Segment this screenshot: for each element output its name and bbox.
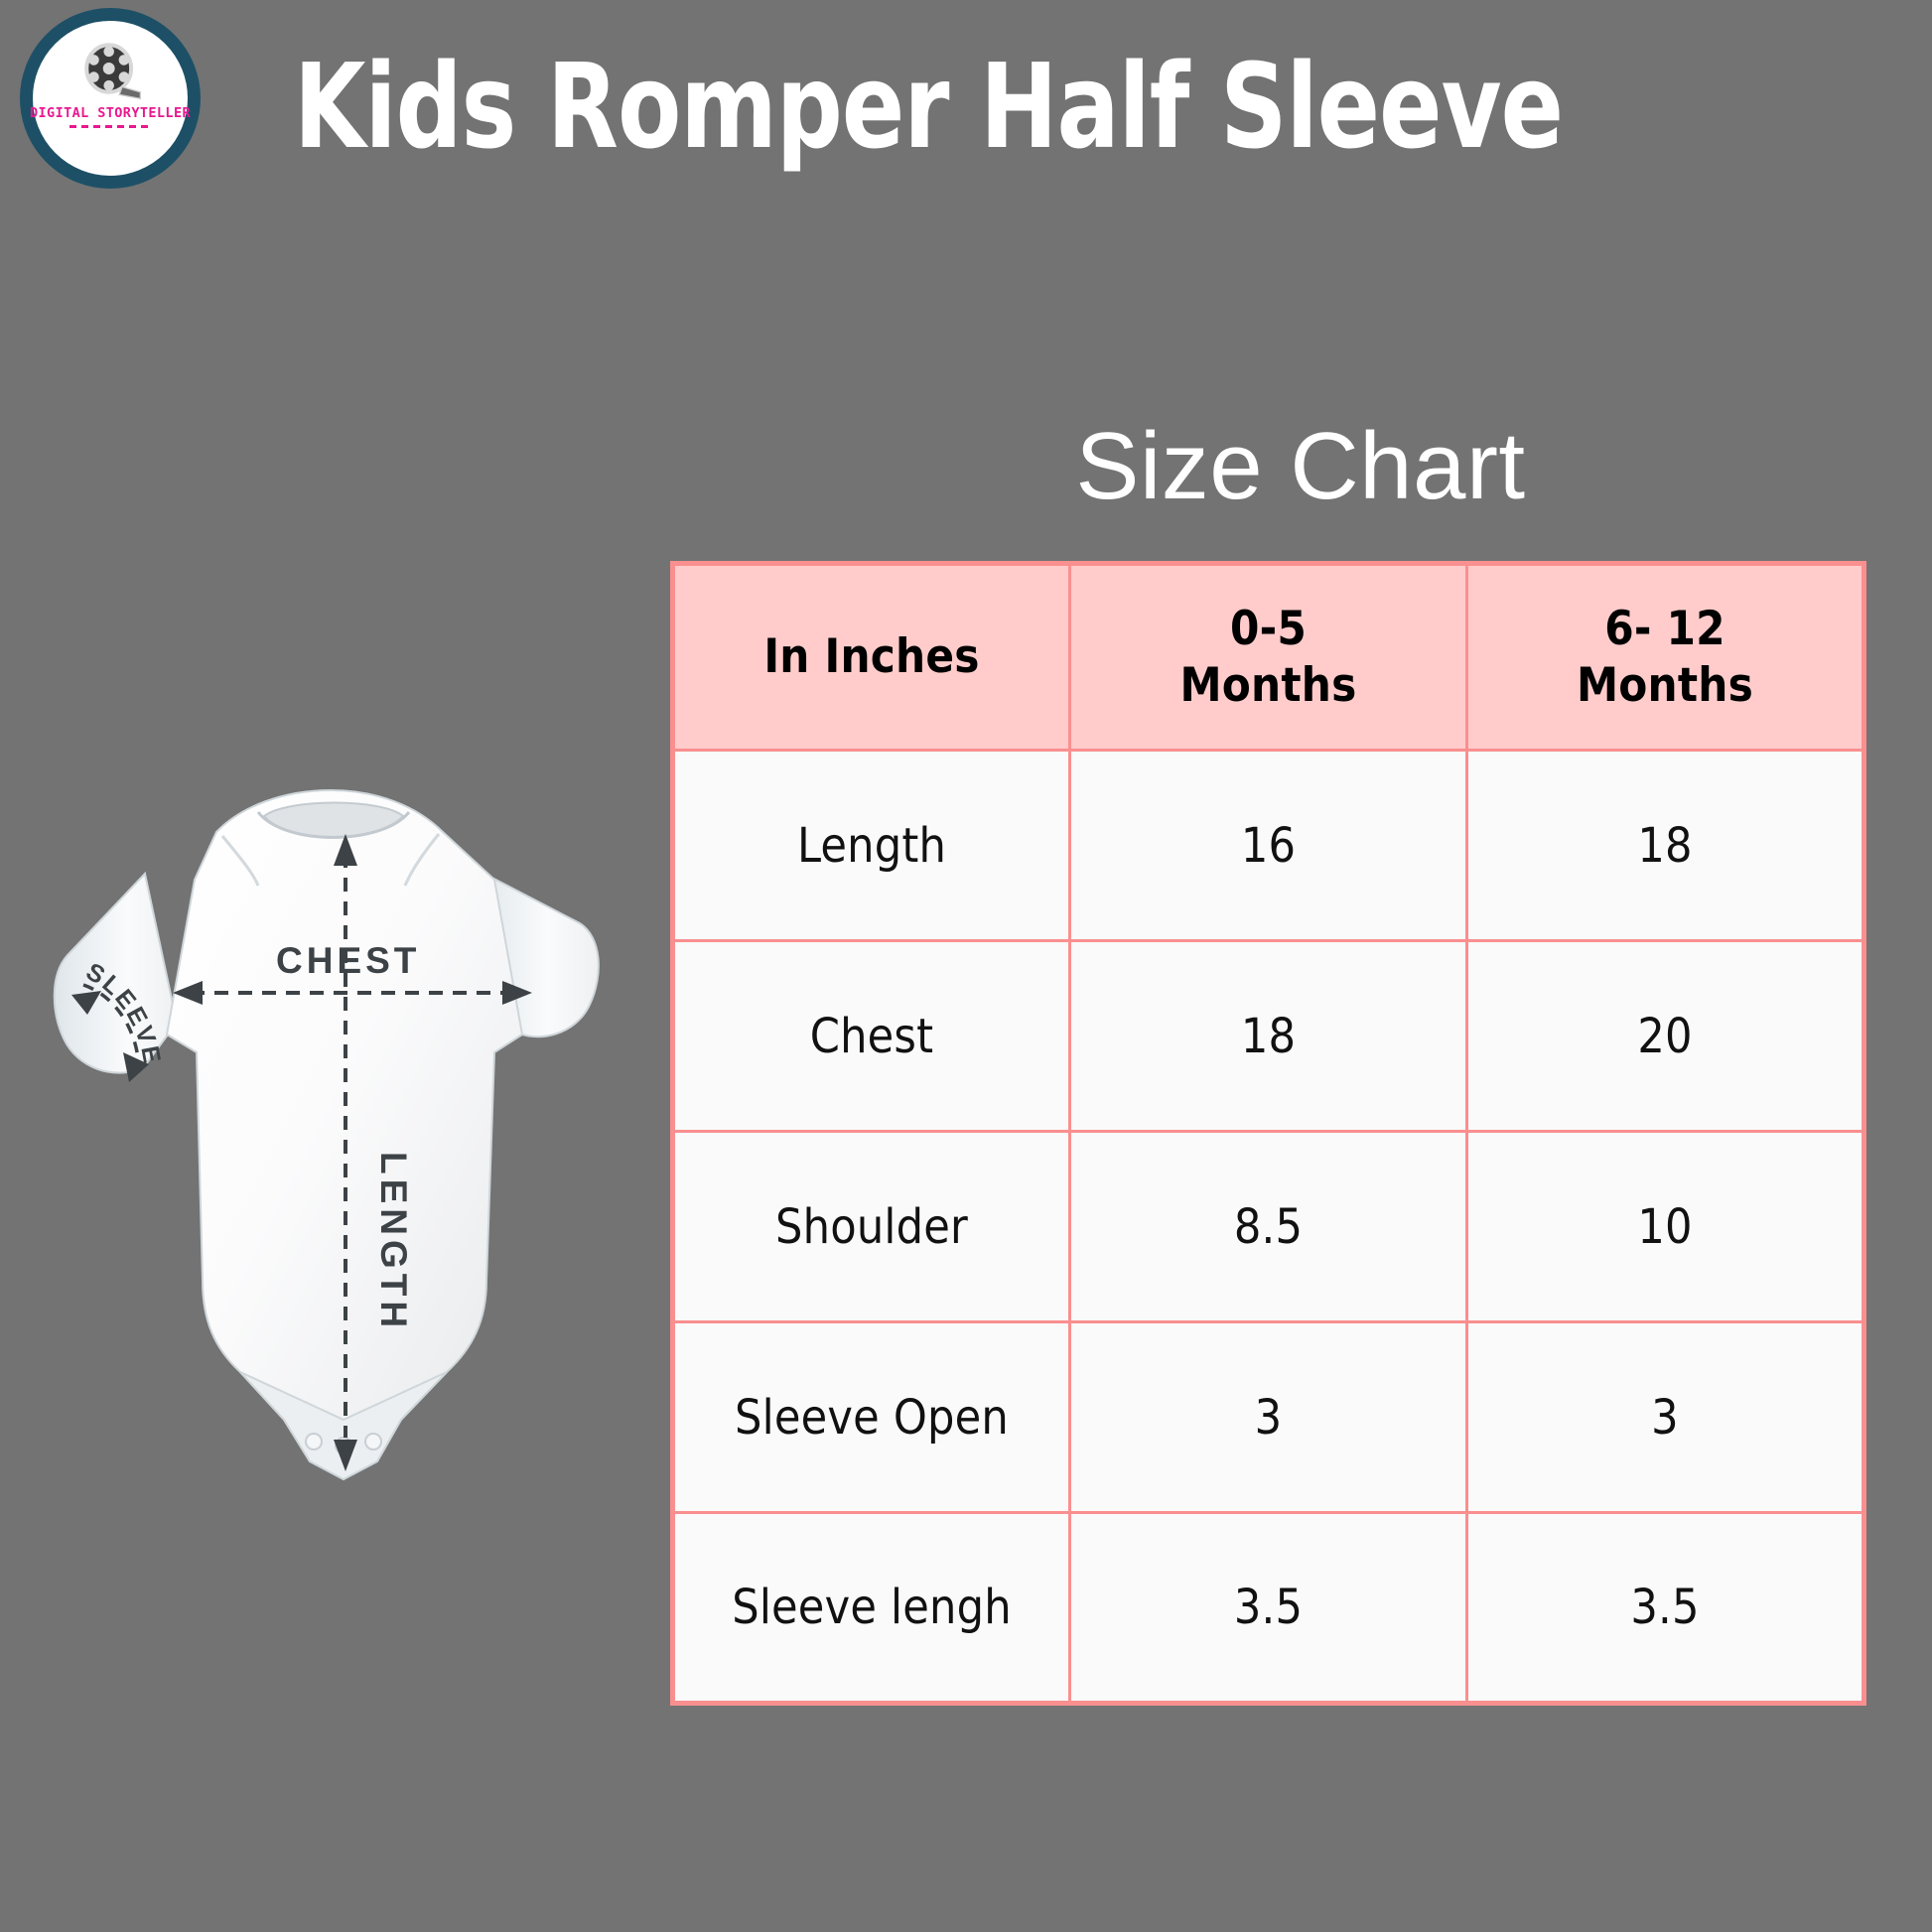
row-measurement-label: Sleeve lengh: [673, 1513, 1070, 1704]
page-title: Kids Romper Half Sleeve: [294, 46, 1563, 169]
chest-label: CHEST: [276, 940, 420, 981]
column-header-6-12-months: 6- 12 Months: [1467, 564, 1864, 751]
row-value-0-5-months: 3: [1070, 1322, 1467, 1513]
row-value-6-12-months: 10: [1467, 1132, 1864, 1322]
row-value-6-12-months: 20: [1467, 941, 1864, 1132]
length-label: LENGTH: [373, 1152, 414, 1332]
row-value-0-5-months: 18: [1070, 941, 1467, 1132]
column-header-0-5-months-line2: Months: [1071, 657, 1465, 714]
size-chart-table-wrapper: In Inches 0-5 Months 6- 12 Months Length…: [670, 561, 1862, 1706]
column-header-measurement-line1: In Inches: [675, 628, 1068, 685]
brand-logo: DIGITAL STORYTELLER: [20, 8, 201, 189]
table-header-row: In Inches 0-5 Months 6- 12 Months: [673, 564, 1864, 751]
row-value-6-12-months: 18: [1467, 751, 1864, 941]
romper-svg: CHEST LENGTH SLEEVE OPEN: [28, 725, 663, 1569]
row-value-0-5-months: 8.5: [1070, 1132, 1467, 1322]
row-measurement-label: Sleeve Open: [673, 1322, 1070, 1513]
column-header-measurement: In Inches: [673, 564, 1070, 751]
row-measurement-label: Chest: [673, 941, 1070, 1132]
table-row: Chest 18 20: [673, 941, 1864, 1132]
table-body: Length 16 18 Chest 18 20 Shoulder 8.5 10…: [673, 751, 1864, 1704]
row-value-6-12-months: 3: [1467, 1322, 1864, 1513]
column-header-0-5-months: 0-5 Months: [1070, 564, 1467, 751]
table-row: Sleeve lengh 3.5 3.5: [673, 1513, 1864, 1704]
table-row: Length 16 18: [673, 751, 1864, 941]
romper-body-shape: [55, 790, 599, 1479]
column-header-6-12-months-line1: 6- 12: [1468, 601, 1862, 657]
table-row: Sleeve Open 3 3: [673, 1322, 1864, 1513]
table-header: In Inches 0-5 Months 6- 12 Months: [673, 564, 1864, 751]
row-measurement-label: Shoulder: [673, 1132, 1070, 1322]
romper-illustration: CHEST LENGTH SLEEVE OPEN: [28, 725, 663, 1569]
column-header-0-5-months-line1: 0-5: [1071, 601, 1465, 657]
brand-name: DIGITAL STORYTELLER: [20, 105, 201, 121]
row-value-6-12-months: 3.5: [1467, 1513, 1864, 1704]
table-row: Shoulder 8.5 10: [673, 1132, 1864, 1322]
logo-dash-rule: [69, 125, 151, 128]
row-value-0-5-months: 16: [1070, 751, 1467, 941]
film-reel-icon: [76, 36, 142, 101]
row-measurement-label: Length: [673, 751, 1070, 941]
row-value-0-5-months: 3.5: [1070, 1513, 1467, 1704]
size-chart-heading: Size Chart: [953, 412, 1648, 521]
size-chart-table: In Inches 0-5 Months 6- 12 Months Length…: [670, 561, 1866, 1706]
column-header-6-12-months-line2: Months: [1468, 657, 1862, 714]
